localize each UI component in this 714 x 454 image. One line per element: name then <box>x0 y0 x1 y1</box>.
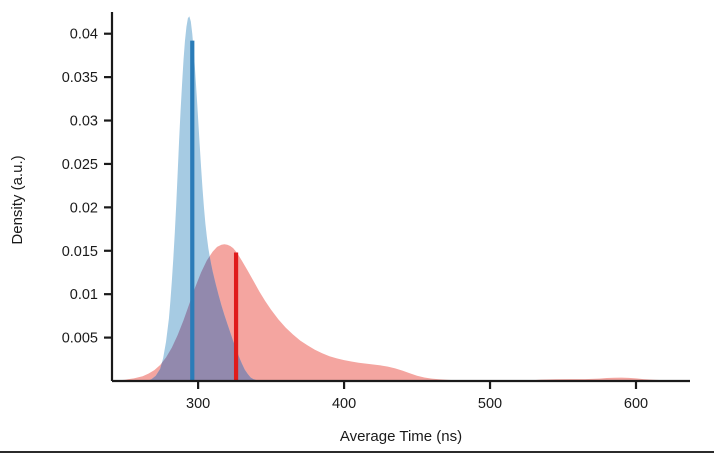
x-tick-label: 300 <box>186 396 210 412</box>
y-tick-label: 0.035 <box>62 70 98 86</box>
y-tick-label: 0.025 <box>62 157 98 173</box>
y-tick-label: 0.01 <box>70 287 98 303</box>
x-tick-label: 600 <box>624 396 648 412</box>
y-axis-title: Density (a.u.) <box>9 155 26 244</box>
y-tick-label: 0.03 <box>70 114 98 130</box>
x-tick-label: 500 <box>478 396 502 412</box>
x-axis-title: Average Time (ns) <box>340 428 462 445</box>
y-tick-label: 0.005 <box>62 331 98 347</box>
x-tick-label: 400 <box>332 396 356 412</box>
figure-background <box>0 0 714 454</box>
y-tick-label: 0.04 <box>70 27 98 43</box>
y-tick-label: 0.02 <box>70 200 98 216</box>
y-tick-label: 0.015 <box>62 244 98 260</box>
density-plot-figure: 3004005006000.0050.010.0150.020.0250.030… <box>0 0 714 454</box>
